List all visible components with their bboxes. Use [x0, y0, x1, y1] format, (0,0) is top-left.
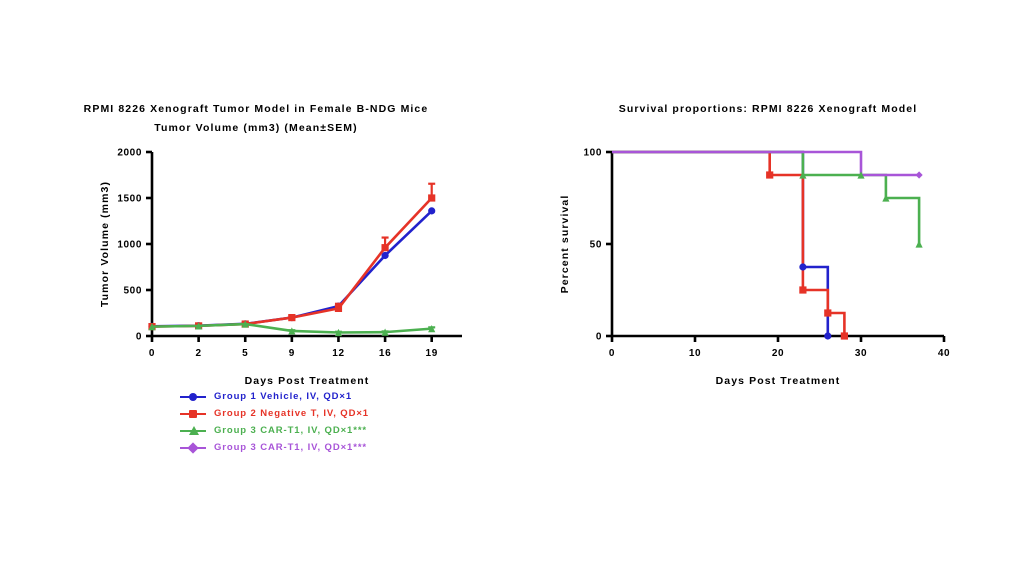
legend-item-label: Group 3 CAR-T1, IV, QD×1***	[214, 442, 367, 453]
y-axis-tick-label: 2000	[117, 148, 142, 159]
tumor-volume-plot: 0500100015002000 0259121619 Tumor Volume…	[90, 140, 490, 385]
y-axis-tick-label: 100	[584, 148, 603, 159]
data-point-circle	[824, 332, 831, 339]
x-axis-tick-label: 0	[149, 348, 155, 359]
tumor-volume-svg: 0500100015002000 0259121619 Tumor Volume…	[90, 140, 490, 385]
tumor-volume-series-group	[148, 184, 435, 336]
series-line	[152, 198, 432, 327]
x-axis-tick-label: 30	[855, 348, 867, 359]
survival-panel: Survival proportions: RPMI 8226 Xenograf…	[512, 0, 1024, 574]
data-point-square	[428, 194, 435, 201]
x-axis-title-tumor-volume: Days Post Treatment	[245, 375, 370, 387]
x-axis-tick-label: 40	[938, 348, 950, 359]
survival-series-group	[612, 152, 923, 340]
x-axis-survival: 010203040	[609, 336, 950, 359]
legend-item-label: Group 2 Negative T, IV, QD×1	[214, 408, 369, 419]
survival-step-line	[612, 152, 919, 175]
legend-triangle-marker-icon	[180, 425, 206, 437]
survival-step-line	[612, 152, 919, 244]
legend-square-marker-icon	[180, 408, 206, 420]
x-axis-tumor-volume: 0259121619	[149, 336, 462, 359]
survival-step-line	[612, 152, 828, 336]
y-axis-tumor-volume: 0500100015002000	[117, 148, 152, 343]
legend-circle-marker-icon	[180, 391, 206, 403]
data-point-square	[824, 309, 831, 316]
tumor-volume-legend-item: Group 2 Negative T, IV, QD×1	[180, 405, 369, 422]
data-point-diamond	[916, 171, 923, 178]
legend-item-label: Group 1 Vehicle, IV, QD×1	[214, 391, 352, 402]
y-axis-tick-label: 0	[596, 332, 602, 343]
legend-item-label: Group 3 CAR-T1, IV, QD×1***	[214, 425, 367, 436]
survival-step-line	[612, 152, 844, 336]
data-point-square	[288, 314, 295, 321]
series-line	[152, 211, 432, 326]
survival-plot: 050100 010203040 Percent survival Days P…	[552, 140, 972, 385]
tumor-volume-legend-item: Group 1 Vehicle, IV, QD×1	[180, 388, 369, 405]
y-axis-percent-survival: 050100	[584, 148, 613, 343]
y-axis-tick-label: 500	[124, 286, 143, 297]
y-axis-title-tumor-volume: Tumor Volume (mm3)	[99, 181, 111, 307]
survival-svg: 050100 010203040 Percent survival Days P…	[552, 140, 972, 385]
data-point-circle	[428, 207, 435, 214]
x-axis-tick-label: 20	[772, 348, 784, 359]
x-axis-tick-label: 5	[242, 348, 248, 359]
data-point-square	[381, 244, 388, 251]
figure-canvas: RPMI 8226 Xenograft Tumor Model in Femal…	[0, 0, 1024, 574]
x-axis-tick-label: 19	[426, 348, 438, 359]
y-axis-tick-label: 50	[590, 240, 602, 251]
x-axis-tick-label: 2	[196, 348, 202, 359]
tumor-volume-legend-item: Group 3 CAR-T1, IV, QD×1***	[180, 422, 369, 439]
x-axis-tick-label: 0	[609, 348, 615, 359]
data-point-triangle	[916, 240, 923, 247]
x-axis-tick-label: 10	[689, 348, 701, 359]
y-axis-tick-label: 0	[136, 332, 142, 343]
legend-diamond-marker-icon	[180, 442, 206, 454]
data-point-circle	[799, 263, 806, 270]
survival-chart-title: Survival proportions: RPMI 8226 Xenograf…	[512, 100, 1024, 119]
tumor-volume-legend-item: Group 3 CAR-T1, IV, QD×1***	[180, 439, 369, 456]
y-axis-title-percent-survival: Percent survival	[559, 195, 571, 294]
data-point-square	[841, 332, 848, 339]
tumor-volume-chart-title: RPMI 8226 Xenograft Tumor Model in Femal…	[0, 100, 512, 138]
x-axis-title-survival: Days Post Treatment	[716, 375, 841, 387]
data-point-square	[766, 171, 773, 178]
y-axis-tick-label: 1000	[117, 240, 142, 251]
x-axis-tick-label: 9	[289, 348, 295, 359]
data-point-square	[335, 305, 342, 312]
x-axis-tick-label: 16	[379, 348, 391, 359]
x-axis-tick-label: 12	[332, 348, 344, 359]
tumor-volume-legend: Group 1 Vehicle, IV, QD×1Group 2 Negativ…	[180, 388, 369, 456]
tumor-volume-panel: RPMI 8226 Xenograft Tumor Model in Femal…	[0, 0, 512, 574]
data-point-square	[799, 286, 806, 293]
y-axis-tick-label: 1500	[117, 194, 142, 205]
